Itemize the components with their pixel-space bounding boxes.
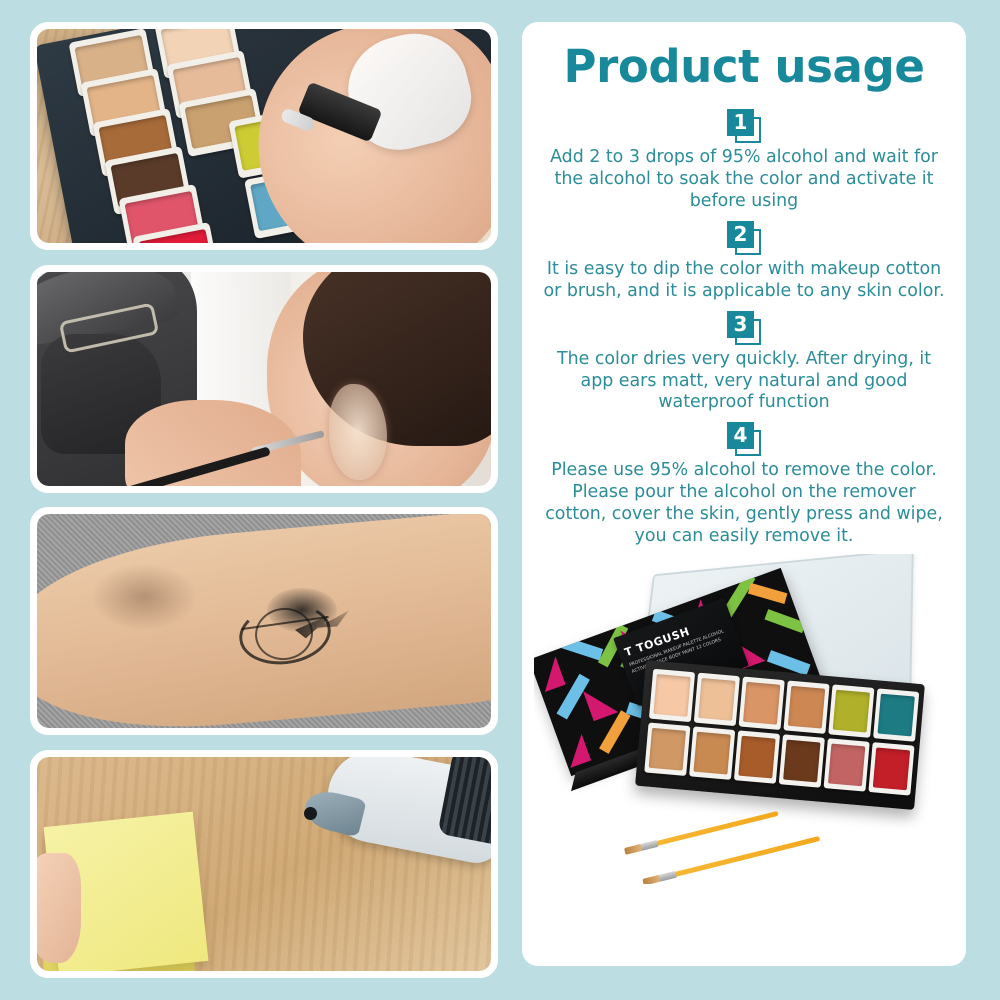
palette-pan bbox=[873, 688, 919, 741]
steps-list: 1 Add 2 to 3 drops of 95% alcohol and wa… bbox=[522, 101, 966, 548]
brush-ferrule bbox=[639, 840, 658, 851]
photo-column bbox=[30, 22, 498, 978]
palette-pan bbox=[828, 684, 874, 737]
step-number: 1 bbox=[727, 109, 754, 136]
brush-ferrule bbox=[658, 871, 677, 882]
temporary-tattoo bbox=[233, 588, 359, 662]
step-number: 4 bbox=[727, 422, 754, 449]
makeup-artist-photo bbox=[30, 265, 498, 493]
infographic-canvas: Product usage 1 Add 2 to 3 drops of 95% … bbox=[0, 0, 1000, 1000]
palette-dropper-photo bbox=[30, 22, 498, 250]
step-badge: 3 bbox=[727, 311, 761, 345]
brush-bristles bbox=[624, 844, 642, 855]
page-title: Product usage bbox=[564, 44, 925, 89]
usage-panel: Product usage 1 Add 2 to 3 drops of 95% … bbox=[522, 22, 966, 966]
step-number: 2 bbox=[727, 221, 754, 248]
step-3: 3 The color dries very quickly. After dr… bbox=[522, 303, 966, 415]
paint-brush-round bbox=[674, 836, 821, 877]
palette-tray bbox=[635, 660, 925, 810]
palette-pan bbox=[783, 681, 829, 734]
step-number: 3 bbox=[727, 311, 754, 338]
sponge-dropper-photo bbox=[30, 750, 498, 978]
palette-pan bbox=[689, 726, 735, 779]
palette-pan bbox=[734, 730, 780, 783]
step-text: Please use 95% alcohol to remove the col… bbox=[536, 460, 952, 548]
palette-pan bbox=[644, 723, 690, 776]
palette-pan bbox=[779, 734, 825, 787]
palette-pan bbox=[694, 673, 740, 726]
paint-brush-flat bbox=[655, 811, 778, 846]
fingers bbox=[37, 853, 81, 963]
step-badge: 1 bbox=[727, 109, 761, 143]
arm-hair bbox=[89, 562, 199, 632]
step-2: 2 It is easy to dip the color with makeu… bbox=[522, 213, 966, 303]
product-photo: T TOGUSH PROFESSIONAL MAKEUP PALETTE ALC… bbox=[534, 554, 954, 884]
palette-pan bbox=[649, 669, 695, 722]
palette-pan bbox=[739, 677, 785, 730]
step-4: 4 Please use 95% alcohol to remove the c… bbox=[522, 414, 966, 548]
step-badge: 2 bbox=[727, 221, 761, 255]
bottle-nozzle-hole bbox=[304, 807, 317, 820]
step-text: It is easy to dip the color with makeup … bbox=[536, 259, 952, 303]
step-text: The color dries very quickly. After dryi… bbox=[536, 349, 952, 415]
palette-pan bbox=[868, 742, 914, 795]
brush-bristles bbox=[642, 875, 660, 884]
step-text: Add 2 to 3 drops of 95% alcohol and wait… bbox=[536, 147, 952, 213]
tattoo-arm-photo bbox=[30, 507, 498, 735]
palette-pan bbox=[824, 738, 870, 791]
step-badge: 4 bbox=[727, 422, 761, 456]
step-1: 1 Add 2 to 3 drops of 95% alcohol and wa… bbox=[522, 101, 966, 213]
